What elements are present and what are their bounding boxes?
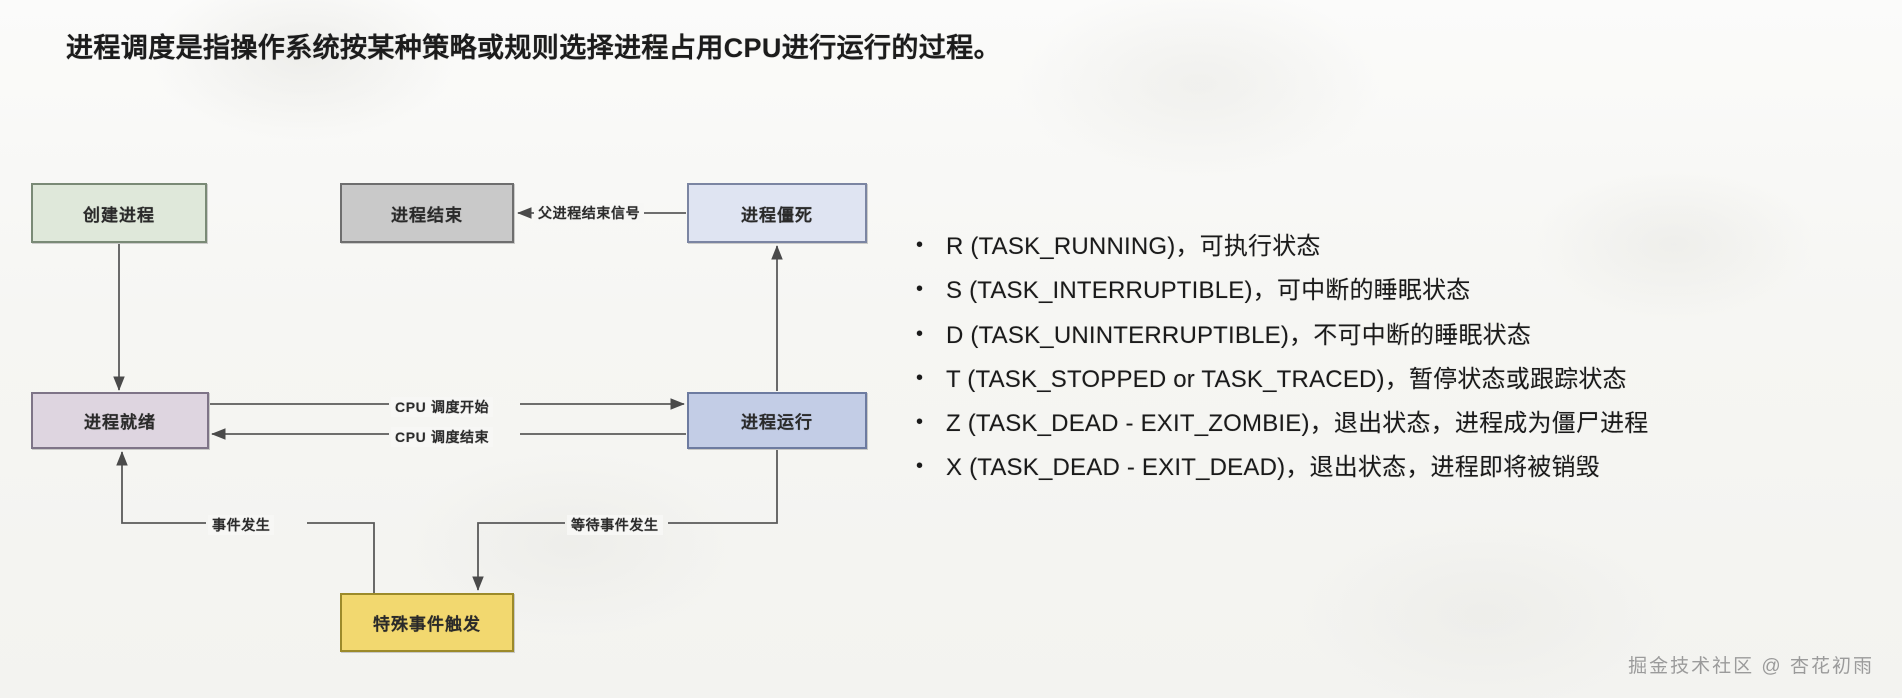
bullet-icon: • — [916, 365, 946, 392]
node-process-ready[interactable]: 进程就绪 — [31, 392, 209, 449]
edge-label-wait-for-event: 等待事件发生 — [567, 515, 663, 535]
edge-running-to-special-b — [478, 523, 565, 590]
list-item-label: T (TASK_STOPPED or TASK_TRACED)，暂停状态或跟踪状… — [946, 365, 1886, 394]
list-item-label: R (TASK_RUNNING)，可执行状态 — [946, 232, 1886, 261]
bullet-icon: • — [916, 453, 946, 480]
node-process-zombie[interactable]: 进程僵死 — [687, 183, 867, 243]
node-process-ready-label: 进程就绪 — [84, 408, 156, 433]
node-process-running-label: 进程运行 — [741, 408, 813, 433]
bullet-icon: • — [916, 276, 946, 303]
list-item-label: S (TASK_INTERRUPTIBLE)，可中断的睡眠状态 — [946, 276, 1886, 305]
bullet-icon: • — [916, 232, 946, 259]
edge-label-event-occurred: 事件发生 — [208, 515, 274, 535]
watermark: 掘金技术社区 @ 杏花初雨 — [1628, 651, 1874, 678]
list-item: • R (TASK_RUNNING)，可执行状态 — [916, 232, 1886, 261]
list-item: • X (TASK_DEAD - EXIT_DEAD)，退出状态，进程即将被销毁 — [916, 453, 1886, 482]
edge-label-parent-exit-signal: 父进程结束信号 — [534, 203, 644, 223]
edge-label-schedule-start: CPU 调度开始 — [391, 397, 493, 417]
node-process-running[interactable]: 进程运行 — [687, 392, 867, 449]
list-item: • S (TASK_INTERRUPTIBLE)，可中断的睡眠状态 — [916, 276, 1886, 305]
list-item: • D (TASK_UNINTERRUPTIBLE)，不可中断的睡眠状态 — [916, 321, 1886, 350]
node-process-zombie-label: 进程僵死 — [741, 201, 813, 226]
node-create-process[interactable]: 创建进程 — [31, 183, 207, 243]
process-state-list: • R (TASK_RUNNING)，可执行状态 • S (TASK_INTER… — [916, 232, 1886, 498]
list-item: • T (TASK_STOPPED or TASK_TRACED)，暂停状态或跟… — [916, 365, 1886, 394]
bullet-icon: • — [916, 409, 946, 436]
list-item-label: Z (TASK_DEAD - EXIT_ZOMBIE)，退出状态，进程成为僵尸进… — [946, 409, 1886, 438]
node-special-event-trigger[interactable]: 特殊事件触发 — [340, 593, 514, 652]
node-process-end-label: 进程结束 — [391, 201, 463, 226]
list-item-label: D (TASK_UNINTERRUPTIBLE)，不可中断的睡眠状态 — [946, 321, 1886, 350]
edge-special-to-ready-a — [307, 523, 374, 593]
edge-special-to-ready-b — [122, 452, 206, 523]
bullet-icon: • — [916, 321, 946, 348]
node-process-end[interactable]: 进程结束 — [340, 183, 514, 243]
node-special-event-trigger-label: 特殊事件触发 — [373, 610, 481, 635]
edge-running-to-special-a — [668, 450, 777, 523]
process-state-diagram: 创建进程 进程结束 进程僵死 进程就绪 进程运行 特殊事件触发 父进程结束信号 … — [0, 0, 900, 698]
node-create-process-label: 创建进程 — [83, 201, 155, 226]
list-item-label: X (TASK_DEAD - EXIT_DEAD)，退出状态，进程即将被销毁 — [946, 453, 1886, 482]
list-item: • Z (TASK_DEAD - EXIT_ZOMBIE)，退出状态，进程成为僵… — [916, 409, 1886, 438]
edge-label-schedule-end: CPU 调度结束 — [391, 427, 493, 447]
